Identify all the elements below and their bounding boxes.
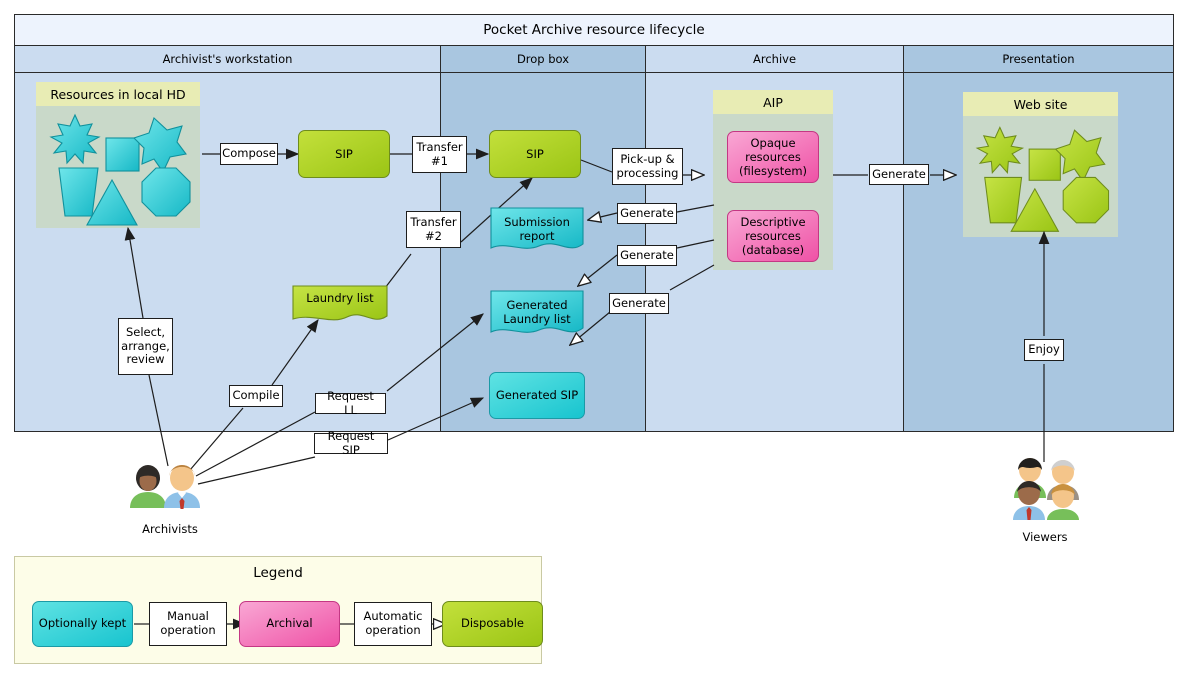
group-title-aip: AIP — [713, 90, 833, 114]
shape-cluster-green — [963, 116, 1118, 237]
legend-node-optionally-kept[interactable]: Optionally kept — [32, 601, 133, 647]
node-sip-dropbox[interactable]: SIP — [489, 130, 581, 178]
group-web-site: Web site — [963, 92, 1118, 237]
edge-label-request-ll[interactable]: Request LL — [315, 393, 386, 414]
node-generated-sip[interactable]: Generated SIP — [489, 372, 585, 419]
edge-label-generate-submission-report[interactable]: Generate — [617, 203, 677, 224]
lane-header-presentation: Presentation — [904, 46, 1173, 73]
edge-label-generate-sip[interactable]: Generate — [609, 293, 669, 314]
pool-title: Pocket Archive resource lifecycle — [15, 15, 1173, 46]
node-sip-workstation[interactable]: SIP — [298, 130, 390, 178]
legend-container: Legend Optionally kept Manual operation … — [14, 556, 542, 664]
star-5-icon — [134, 118, 186, 172]
edge-label-transfer-2[interactable]: Transfer #2 — [406, 211, 461, 248]
legend-node-archival[interactable]: Archival — [239, 601, 340, 647]
octagon-icon — [142, 168, 190, 216]
edge-label-select-arrange-review[interactable]: Select, arrange, review — [118, 318, 173, 375]
lane-header-archivists-workstation: Archivist's workstation — [15, 46, 440, 73]
star-5-icon — [1056, 130, 1105, 181]
node-generated-laundry-list[interactable]: Generated Laundry list — [489, 290, 585, 342]
green-shapes — [963, 116, 1118, 237]
group-title-resources-in-local-hd: Resources in local HD — [36, 82, 200, 106]
node-opaque-resources[interactable]: Opaque resources (filesystem) — [727, 131, 819, 183]
edge-label-compile[interactable]: Compile — [229, 385, 283, 407]
octagon-icon — [1063, 177, 1108, 222]
star-8-icon — [51, 115, 99, 163]
actor-archivists-label: Archivists — [120, 522, 220, 536]
lane-header-archive: Archive — [646, 46, 903, 73]
node-submission-report[interactable]: Submission report — [489, 207, 585, 257]
edge-label-transfer-1[interactable]: Transfer #1 — [412, 136, 467, 173]
node-laundry-list[interactable]: Laundry list — [289, 285, 391, 327]
square-icon — [1029, 149, 1060, 180]
actor-viewers[interactable] — [1008, 458, 1086, 520]
shape-cluster-cyan — [36, 106, 200, 228]
edge-label-enjoy[interactable]: Enjoy — [1024, 339, 1064, 361]
group-title-web-site: Web site — [963, 92, 1118, 116]
trapezoid-icon — [59, 168, 98, 216]
edge-label-generate-laundry-list[interactable]: Generate — [617, 245, 677, 266]
edge-label-pickup-processing[interactable]: Pick-up & processing — [612, 148, 683, 185]
edge-label-generate-website[interactable]: Generate — [869, 164, 929, 185]
legend-node-disposable[interactable]: Disposable — [442, 601, 543, 647]
star-8-icon — [977, 127, 1022, 172]
actor-viewers-label: Viewers — [995, 530, 1095, 544]
group-resources-in-local-hd: Resources in local HD — [36, 82, 200, 228]
legend-title: Legend — [15, 565, 541, 581]
actor-archivists[interactable] — [124, 462, 216, 514]
lane-divider-2 — [645, 46, 646, 431]
trapezoid-icon — [985, 177, 1022, 222]
legend-label-manual-operation[interactable]: Manual operation — [149, 602, 227, 646]
node-descriptive-resources[interactable]: Descriptive resources (database) — [727, 210, 819, 262]
node-submission-report-label: Submission report — [489, 215, 585, 244]
cyan-shapes — [36, 106, 200, 228]
lane-divider-3 — [903, 46, 904, 431]
edge-label-compose[interactable]: Compose — [220, 143, 278, 165]
node-laundry-list-label: Laundry list — [289, 291, 391, 305]
lane-header-drop-box: Drop box — [441, 46, 645, 73]
square-icon — [106, 138, 139, 171]
edge-label-request-sip[interactable]: Request SIP — [314, 433, 388, 454]
node-generated-laundry-list-label: Generated Laundry list — [489, 298, 585, 327]
legend-label-automatic-operation[interactable]: Automatic operation — [354, 602, 432, 646]
